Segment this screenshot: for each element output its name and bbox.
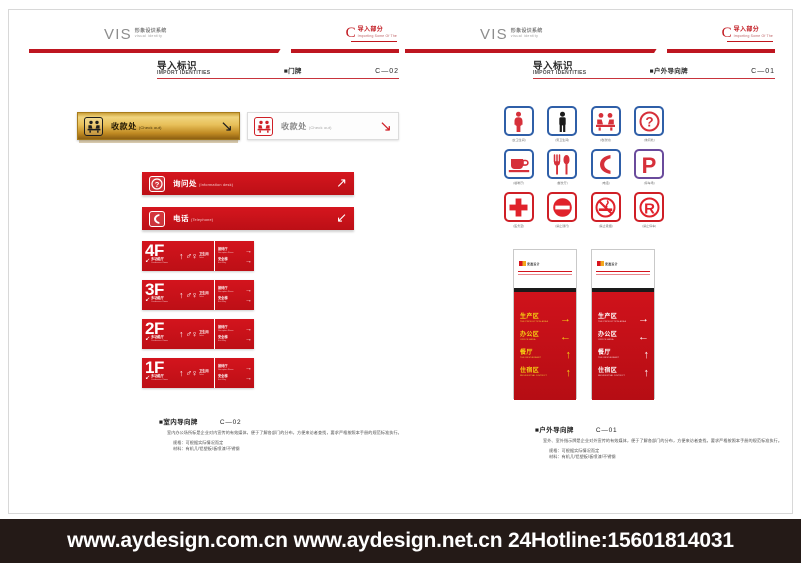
checkout-sign-white: 收款处 (Check out) ↘ (247, 112, 399, 140)
pylon-row: 餐厅 THE RESTAURANT ↑ (520, 350, 571, 360)
question-mark-icon: ? (149, 176, 165, 192)
subheader-title-en: IMPORT IDENTITIES (157, 70, 210, 76)
subheader-left: 导入标识 IMPORT IDENTITIES ■门牌 C—02 (157, 62, 399, 79)
pylon-row: 生产区 THE PRODUCTION AREA → (520, 314, 571, 324)
logo-text: 安盈设计 (527, 262, 540, 266)
arrow-right-icon: → (245, 248, 254, 255)
restroom-icon: ♂♀ (186, 252, 198, 261)
floor-mid-cn: 卫生间 (199, 292, 209, 296)
svg-text:?: ? (155, 179, 160, 188)
men-restroom-icon (547, 106, 577, 136)
pylon-row-en: RESIDENTIAL DISTRICT (520, 375, 547, 378)
floor-mid-cn: 卫生间 (199, 331, 209, 335)
floor-number-block: 1F ↙ 多功能厅 Conference Room (142, 358, 178, 388)
pylon-row: 餐厅 THE RESTAURANT ↑ (598, 350, 649, 360)
floor-left-en: Conference Room (151, 301, 168, 304)
pictogram-caption: (餐饮厅) (557, 181, 568, 185)
pictogram-cell: (电话) (588, 149, 624, 185)
caption-paragraph: 室外、室外指示牌是企业对外宣传的有效媒体，便于了解各部门的分布，方便来访者查找，… (535, 438, 785, 445)
pylon-row: 住宿区 RESIDENTIAL DISTRICT ↑ (520, 368, 571, 378)
coffee-cup-icon (504, 149, 534, 179)
chapter-mark: C 导入部分 Importing Some Of The (346, 26, 397, 40)
logo-mark-icon (597, 261, 604, 266)
arrow-down-left-icon: ↙ (336, 212, 347, 226)
logo-mark-icon (519, 261, 526, 266)
svg-text:?: ? (645, 114, 653, 129)
information-desk-sign: ? 询问处 (Information desk) ↗ (142, 172, 354, 195)
subheader-code: C—01 (751, 68, 775, 76)
vis-wordmark: VIS (480, 27, 508, 42)
arrow-up-icon: ↑ (566, 350, 572, 360)
pylon-row-cn: 办公区 (520, 332, 539, 339)
arrow-up-icon: ↑ (644, 368, 650, 378)
panel-header-right: VIS 形象设识系统 visual identity C 导入部分 Import… (405, 24, 775, 58)
floor-mid-block: ↑ ♂♀ 卫生间 Toilet (178, 358, 214, 388)
arrow-left-icon: ← (560, 332, 571, 342)
pictogram-caption: (女卫生间) (512, 138, 526, 142)
checkout-bars: 收款处 (Check out) ↘ (77, 112, 399, 146)
arrow-down-left-icon: ↙ (145, 375, 150, 381)
pictogram-cell: ? (询问处) (632, 106, 668, 142)
arrow-down-left-icon: ↙ (145, 336, 150, 342)
pictogram-grid: (女卫生间) (男卫生间) (501, 106, 667, 228)
pylon-row-en: OFFICE AREA (520, 339, 539, 342)
floor-sign-3f: 3F ↙ 多功能厅 Conference Room ↑ ♂♀ 卫生间 Toil (142, 280, 254, 310)
floor-right-block: 接待厅 Reception Room → 安全梯 Exit Way → (214, 358, 254, 388)
checkout-counter-icon (254, 117, 273, 136)
pictogram-cell: (餐饮厅) (545, 149, 581, 185)
caption-code: C—02 (220, 419, 242, 426)
pylon-row-cn: 办公区 (598, 332, 617, 339)
pictogram-caption: (电话) (602, 181, 610, 185)
caption-block-outdoor: ■户外导向牌 C—01 室外、室外指示牌是企业对外宣传的有效媒体，便于了解各部门… (535, 424, 785, 461)
pictogram-caption: (禁止吸烟) (599, 224, 613, 228)
question-mark-icon: ? (634, 106, 664, 136)
arrow-right-icon: → (245, 297, 254, 304)
chapter-en: Importing Some Of The (734, 34, 773, 39)
floor-row-en: Reception Room (218, 330, 233, 333)
no-entry-icon (547, 192, 577, 222)
chapter-underline (727, 41, 773, 42)
floor-row-cn: 安全梯 (218, 336, 228, 340)
caption-block-indoor: ■室内导向牌 C—02 室内办公场所标是企业对内宣传的有效媒体，便于了解各部门的… (159, 416, 409, 453)
pictogram-cell: (收款处) (588, 106, 624, 142)
floor-sign-2f: 2F ↙ 多功能厅 Conference Room ↑ ♂♀ 卫生间 Toil (142, 319, 254, 349)
floor-mid-en: Toilet (199, 257, 209, 260)
floor-right-block: 接待厅 Reception Room → 安全梯 Exit Way → (214, 280, 254, 310)
outdoor-pylon-white: 安盈设计 生产区 THE PRODUCTION AREA → (591, 249, 655, 399)
floor-row-en: Exit Way (218, 301, 228, 304)
telephone-en: (Telephone) (191, 218, 213, 222)
telephone-label: 电话 (Telephone) (165, 213, 336, 224)
caption-title: ■户外导向牌 (535, 424, 574, 434)
pictogram-cell: R (禁止停车) (632, 192, 668, 228)
arrow-up-icon: ↑ (179, 330, 184, 339)
floor-row-en: Reception Room (218, 291, 233, 294)
arrow-up-icon: ↑ (644, 350, 650, 360)
svg-text:R: R (644, 200, 655, 217)
pylon-head: 安盈设计 (514, 250, 576, 288)
floor-right-block: 接待厅 Reception Room → 安全梯 Exit Way → (214, 241, 254, 271)
floor-mid-en: Toilet (199, 335, 209, 338)
floor-row-en: Reception Room (218, 252, 233, 255)
floor-mid-block: ↑ ♂♀ 卫生间 Toilet (178, 280, 214, 310)
arrow-right-icon: → (245, 365, 254, 372)
pictogram-cell: (咖啡厅) (501, 149, 537, 185)
chapter-letter: C (722, 26, 732, 40)
vis-logo-en: visual identity (135, 34, 167, 39)
checkout-sign-gold: 收款处 (Check out) ↘ (77, 112, 240, 140)
arrow-left-icon: ← (638, 332, 649, 342)
checkout-white-label: 收款处 (Check out) (273, 121, 379, 132)
pictogram-cell: (禁止通行) (545, 192, 581, 228)
floor-mid-en: Toilet (199, 296, 209, 299)
parking-icon: P (634, 149, 664, 179)
checkout-gold-cn: 收款处 (111, 121, 137, 132)
floor-row-en: Reception Room (218, 369, 233, 372)
information-desk-en: (Information desk) (199, 183, 233, 187)
pylon-row: 生产区 THE PRODUCTION AREA → (598, 314, 649, 324)
no-parking-icon: R (634, 192, 664, 222)
pictogram-caption: (停车场) (644, 181, 655, 185)
arrow-right-icon: → (560, 314, 571, 324)
pylon-row: 办公区 OFFICE AREA ← (520, 332, 571, 342)
first-aid-icon (504, 192, 534, 222)
vis-logo-cn: 形象设识系统 (511, 27, 543, 34)
floor-sign-4f: 4F ↙ 多功能厅 Conference Room ↑ ♂♀ 卫生间 Toil (142, 241, 254, 271)
checkout-counter-icon (84, 117, 103, 136)
pictogram-caption: (询问处) (644, 138, 655, 142)
floor-right-block: 接待厅 Reception Room → 安全梯 Exit Way → (214, 319, 254, 349)
pictogram-cell: (女卫生间) (501, 106, 537, 142)
arrow-down-left-icon: ↙ (145, 258, 150, 264)
vis-logo: VIS 形象设识系统 visual identity (104, 27, 167, 42)
caption-paragraph: 室内办公场所标是企业对内宣传的有效媒体，便于了解各部门的分布，方便来访者查找，要… (159, 430, 409, 437)
arrow-right-icon: → (245, 287, 254, 294)
floor-left-en: Conference Room (151, 379, 168, 382)
subheader-category: ■户外导向牌 (650, 65, 688, 76)
arrow-up-icon: ↑ (179, 252, 184, 261)
floor-row-en: Exit Way (218, 340, 228, 343)
vis-wordmark: VIS (104, 27, 132, 42)
floor-row-cn: 安全梯 (218, 375, 228, 379)
pictogram-caption: (医务室) (513, 224, 524, 228)
pylon-rule-thin (596, 274, 650, 275)
footer-banner: www.aydesign.com.cn www.aydesign.net.cn … (0, 519, 801, 563)
floor-mid-block: ↑ ♂♀ 卫生间 Toilet (178, 319, 214, 349)
floor-mid-en: Toilet (199, 374, 209, 377)
floor-number-block: 4F ↙ 多功能厅 Conference Room (142, 241, 178, 271)
floor-mid-cn: 卫生间 (199, 253, 209, 257)
checkout-white-en: (Check out) (309, 125, 332, 130)
pylon-row-en: THE PRODUCTION AREA (598, 321, 626, 324)
arrow-up-icon: ↑ (179, 291, 184, 300)
chapter-cn: 导入部分 (734, 27, 773, 34)
subheader-rule (533, 78, 775, 79)
pylon-row-en: OFFICE AREA (598, 339, 617, 342)
arrow-down-left-icon: ↙ (145, 297, 150, 303)
restaurant-icon (547, 149, 577, 179)
pylon-row-en: THE PRODUCTION AREA (520, 321, 548, 324)
pictogram-cell: (禁止吸烟) (588, 192, 624, 228)
panel-left: VIS 形象设识系统 visual identity C 导入部分 Import… (29, 24, 399, 494)
arrow-right-icon: → (638, 314, 649, 324)
arrow-down-right-icon: ↘ (220, 119, 233, 133)
chapter-underline (351, 41, 397, 42)
floor-number-block: 2F ↙ 多功能厅 Conference Room (142, 319, 178, 349)
company-logo: 安盈设计 (597, 261, 618, 266)
women-restroom-icon (504, 106, 534, 136)
subheader-right: 导入标识 IMPORT IDENTITIES ■户外导向牌 C—01 (533, 62, 775, 79)
footer-banner-text: www.aydesign.com.cn www.aydesign.net.cn … (67, 529, 734, 553)
subheader-category: ■门牌 (284, 65, 302, 76)
arrow-right-icon: → (245, 375, 254, 382)
pictogram-cell: (男卫生间) (545, 106, 581, 142)
vis-logo-cn: 形象设识系统 (135, 27, 167, 34)
arrow-right-icon: → (245, 258, 254, 265)
checkout-counter-icon (591, 106, 621, 136)
pictogram-caption: (禁止停车) (642, 224, 656, 228)
header-rule (29, 49, 399, 53)
floor-mid-cn: 卫生间 (199, 370, 209, 374)
panel-header-left: VIS 形象设识系统 visual identity C 导入部分 Import… (29, 24, 399, 58)
checkout-gold-en: (Check out) (139, 125, 162, 130)
caption-material: 材料：有机几/铝塑板/板喷漆/不锈钢 (549, 454, 785, 461)
header-rule (405, 49, 775, 53)
arrow-up-icon: ↑ (566, 368, 572, 378)
page-frame: VIS 形象设识系统 visual identity C 导入部分 Import… (8, 9, 793, 514)
arrow-right-icon: → (245, 336, 254, 343)
telephone-icon (149, 211, 165, 227)
pictogram-caption: (收款处) (600, 138, 611, 142)
pylon-rule-thin (518, 274, 572, 275)
logo-text: 安盈设计 (605, 262, 618, 266)
restroom-icon: ♂♀ (186, 369, 198, 378)
outdoor-pylon-yellow: 安盈设计 生产区 THE PRODUCTION AREA → (513, 249, 577, 399)
arrow-down-right-icon: ↘ (379, 119, 392, 133)
chapter-letter: C (346, 26, 356, 40)
pylon-row: 住宿区 RESIDENTIAL DISTRICT ↑ (598, 368, 649, 378)
telephone-icon (591, 149, 621, 179)
svg-text:P: P (642, 154, 657, 175)
restroom-icon: ♂♀ (186, 291, 198, 300)
pictogram-caption: (禁止通行) (555, 224, 569, 228)
vis-logo-en: visual identity (511, 34, 543, 39)
pictogram-caption: (男卫生间) (555, 138, 569, 142)
pylon-row: 办公区 OFFICE AREA ← (598, 332, 649, 342)
checkout-gold-label: 收款处 (Check out) (103, 121, 220, 132)
company-logo: 安盈设计 (519, 261, 540, 266)
telephone-sign: 电话 (Telephone) ↙ (142, 207, 354, 230)
chapter-cn: 导入部分 (358, 27, 397, 34)
floor-row-en: Exit Way (218, 379, 228, 382)
floor-sign-1f: 1F ↙ 多功能厅 Conference Room ↑ ♂♀ 卫生间 Toil (142, 358, 254, 388)
pylon-head: 安盈设计 (592, 250, 654, 288)
caption-code: C—01 (596, 427, 618, 434)
arrow-right-icon: → (245, 326, 254, 333)
chapter-mark: C 导入部分 Importing Some Of The (722, 26, 773, 40)
pylon-rule (596, 271, 650, 272)
pictogram-cell: (医务室) (501, 192, 537, 228)
information-desk-cn: 询问处 (173, 178, 197, 189)
pylon-row-en: THE RESTAURANT (598, 357, 619, 360)
chapter-en: Importing Some Of The (358, 34, 397, 39)
pylon-body: 生产区 THE PRODUCTION AREA → 办公区 OFFICE ARE… (514, 292, 576, 400)
arrow-up-icon: ↑ (179, 369, 184, 378)
floor-row-cn: 安全梯 (218, 258, 228, 262)
screenshot-root: VIS 形象设识系统 visual identity C 导入部分 Import… (0, 0, 801, 563)
subheader-title-en: IMPORT IDENTITIES (533, 70, 586, 76)
caption-title: ■室内导向牌 (159, 416, 198, 426)
subheader-code: C—02 (375, 68, 399, 76)
pictogram-caption: (咖啡厅) (513, 181, 524, 185)
vis-logo: VIS 形象设识系统 visual identity (480, 27, 543, 42)
pylon-row-en: RESIDENTIAL DISTRICT (598, 375, 625, 378)
pylon-body: 生产区 THE PRODUCTION AREA → 办公区 OFFICE ARE… (592, 292, 654, 400)
caption-material: 材料：有机几/铝塑板/板喷漆/不锈钢 (173, 446, 409, 453)
no-smoking-icon (591, 192, 621, 222)
floor-mid-block: ↑ ♂♀ 卫生间 Toilet (178, 241, 214, 271)
information-desk-label: 询问处 (Information desk) (165, 178, 336, 189)
pylon-row-en: THE RESTAURANT (520, 357, 541, 360)
floor-row-cn: 安全梯 (218, 297, 228, 301)
floor-number-block: 3F ↙ 多功能厅 Conference Room (142, 280, 178, 310)
subheader-rule (157, 78, 399, 79)
telephone-cn: 电话 (173, 213, 189, 224)
floor-left-en: Conference Room (151, 262, 168, 265)
restroom-icon: ♂♀ (186, 330, 198, 339)
arrow-up-right-icon: ↗ (336, 177, 347, 191)
floor-left-en: Conference Room (151, 340, 168, 343)
floor-row-en: Exit Way (218, 262, 228, 265)
panel-right: VIS 形象设识系统 visual identity C 导入部分 Import… (405, 24, 775, 494)
checkout-white-cn: 收款处 (281, 121, 307, 132)
pylon-rule (518, 271, 572, 272)
pictogram-cell: P (停车场) (632, 149, 668, 185)
